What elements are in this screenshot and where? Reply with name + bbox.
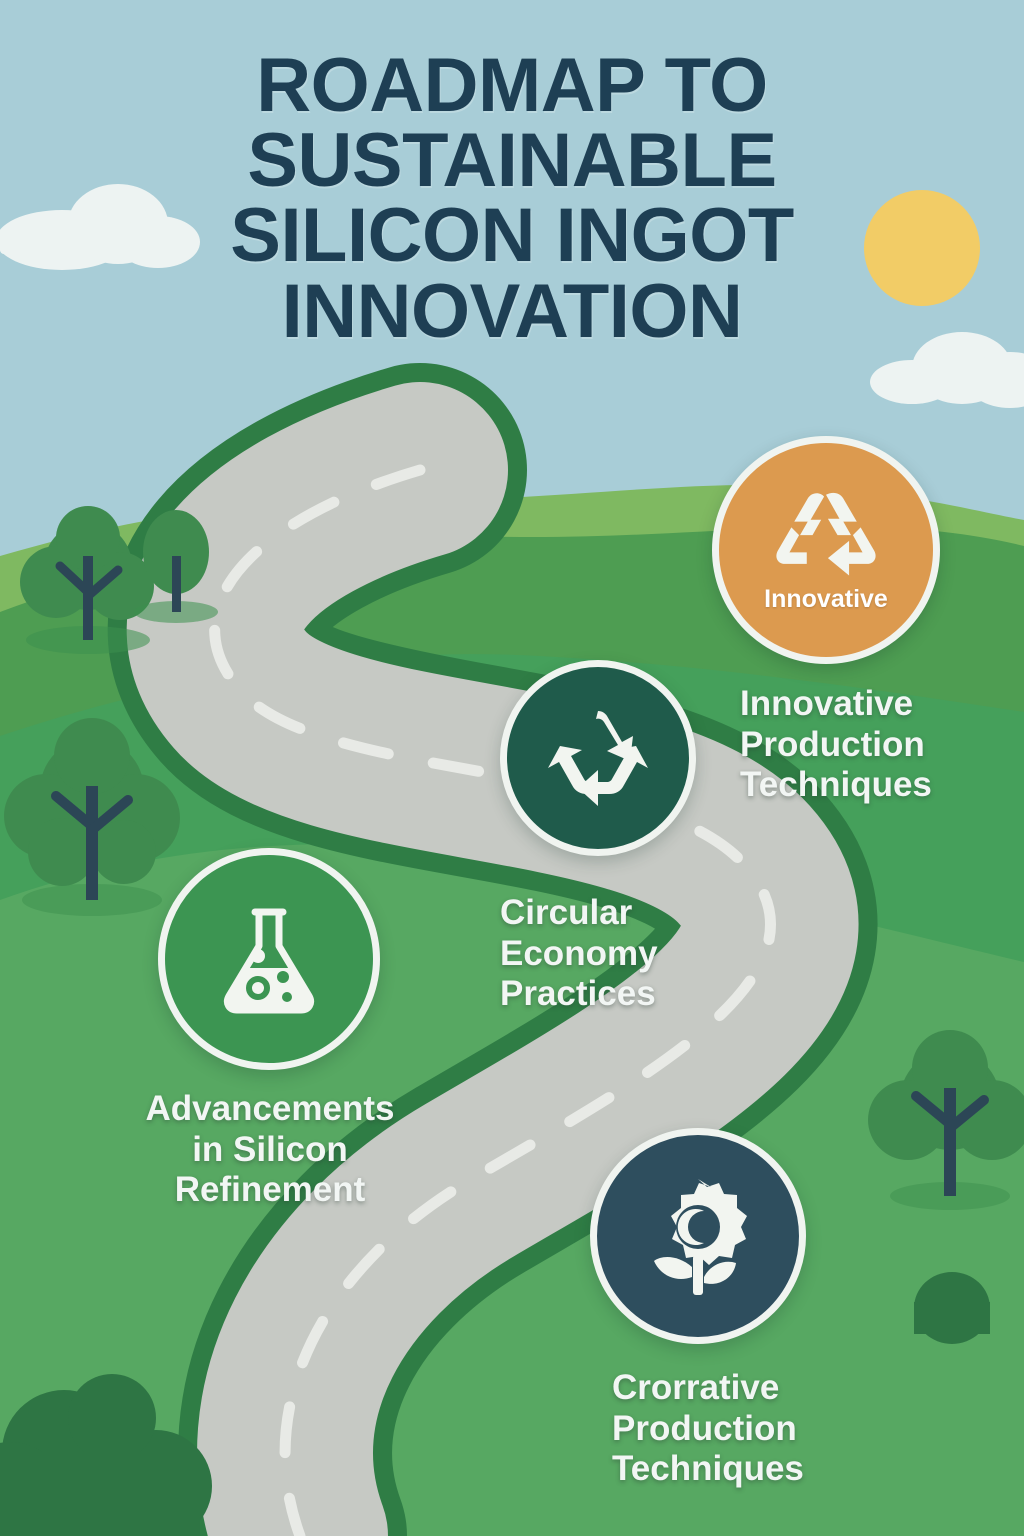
bush-right — [914, 1272, 990, 1344]
milestone-circular-economy-practices[interactable] — [500, 660, 696, 856]
infographic-poster: Roadmap to Sustainable Silicon Ingot Inn… — [0, 0, 1024, 1536]
flask-icon — [213, 898, 325, 1020]
recycle-icon — [767, 487, 885, 587]
milestone-circle-advancements[interactable] — [158, 848, 380, 1070]
recycle-icon — [538, 699, 658, 817]
milestone-label-innovative: Innovative Production Techniques — [740, 684, 1010, 806]
sun-icon — [864, 190, 980, 306]
milestone-circle-collaborative[interactable] — [590, 1128, 806, 1344]
milestone-label-circular: Circular Economy Practices — [500, 893, 730, 1015]
milestone-advancements-in-silicon-refinement[interactable] — [158, 848, 380, 1070]
milestone-circle-circular[interactable] — [500, 660, 696, 856]
milestone-badge-word-innovative: Innovative — [764, 585, 888, 614]
milestone-label-collaborative: Crorrative Production Techniques — [612, 1368, 912, 1490]
milestone-innovative-production-techniques[interactable]: Innovative — [712, 436, 940, 664]
gear-flower-icon — [640, 1173, 756, 1299]
milestone-crorrative-production-techniques[interactable] — [590, 1128, 806, 1344]
milestone-label-advancements: Advancements in Silicon Refinement — [120, 1089, 420, 1211]
milestone-circle-innovative[interactable]: Innovative — [712, 436, 940, 664]
